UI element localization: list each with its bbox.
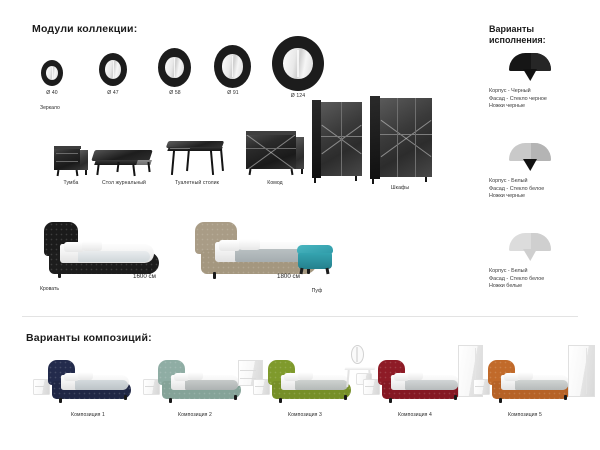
bed-pillow [82,241,102,251]
mirror-124-label: Ø 124 [278,93,318,99]
bed-pillow [64,242,84,252]
mirror-40-label: Ø 40 [32,90,72,96]
bed-pillow [219,240,240,251]
composition-bed [48,358,132,404]
mirror-glass [222,54,243,78]
module-dressing-table-label: Туалетный столик [163,180,231,186]
section-divider [22,316,578,317]
wardrobe-white [568,345,595,397]
module-coffee-table-label: Стол журнальный [92,180,156,186]
module-chest [246,131,304,177]
mirror-91 [214,45,251,88]
composition-3 [253,345,371,407]
mirror-glass [283,48,312,79]
variant-swatch-white-white-legs [509,233,551,261]
bed-pillow [239,239,260,250]
mirrors-group-label: Зеркало [40,105,60,111]
variant-swatch-black [509,53,551,81]
variants-section-title: Варианты исполнения: [489,24,600,46]
bed-1600 [44,222,164,278]
composition-bed [378,358,462,404]
mirror-124 [272,36,324,91]
mirror-58-label: Ø 58 [155,90,195,96]
composition-bed [488,358,572,404]
module-chest-label: Комод [250,180,300,186]
bed-sheet [78,251,150,262]
variant-black-text: Корпус - Черный Фасад - Стекло черное Но… [489,88,600,111]
composition-4-label: Композиция 4 [385,412,445,418]
mirror-40 [41,60,63,86]
module-nightstand-label: Тумба [46,180,96,186]
mirror-glass [46,66,58,81]
mirror-91-label: Ø 91 [213,90,253,96]
pouf [297,245,337,278]
composition-5 [473,345,595,407]
module-coffee-table [93,146,155,176]
composition-4 [363,345,483,407]
pouf-label: Пуф [300,288,334,294]
composition-1 [33,358,133,406]
composition-3-label: Композиция 3 [275,412,335,418]
mirror-58 [158,48,191,87]
mirror-47-label: Ø 47 [93,90,133,96]
mirror-glass [165,57,184,79]
composition-2 [143,358,258,406]
mirror-glass [105,60,121,79]
mirror-47 [99,53,127,86]
module-wardrobes-label: Шкафы [375,185,425,191]
composition-1-label: Композиция 1 [58,412,118,418]
beds-group-label: Кровать [40,286,59,292]
catalog-page: Модули коллекции: Ø 40 Ø 47 Ø 58 Ø 91 Ø … [0,0,600,450]
compositions-section-title: Варианты композиций: [26,332,152,344]
composition-bed [158,358,242,404]
composition-bed [268,358,352,404]
variant-white-white-legs-text: Корпус - Белый Фасад - Стекло белое Ножк… [489,268,600,291]
module-nightstand [54,146,88,176]
variant-swatch-white-black-legs [509,143,551,171]
module-dressing-table [165,139,227,177]
composition-5-label: Композиция 5 [495,412,555,418]
bed-1600-dimension: 1600 см [133,273,156,280]
modules-section-title: Модули коллекции: [32,23,137,35]
composition-2-label: Композиция 2 [165,412,225,418]
variant-white-black-legs-text: Корпус - Белый Фасад - Стекло белое Ножк… [489,178,600,201]
